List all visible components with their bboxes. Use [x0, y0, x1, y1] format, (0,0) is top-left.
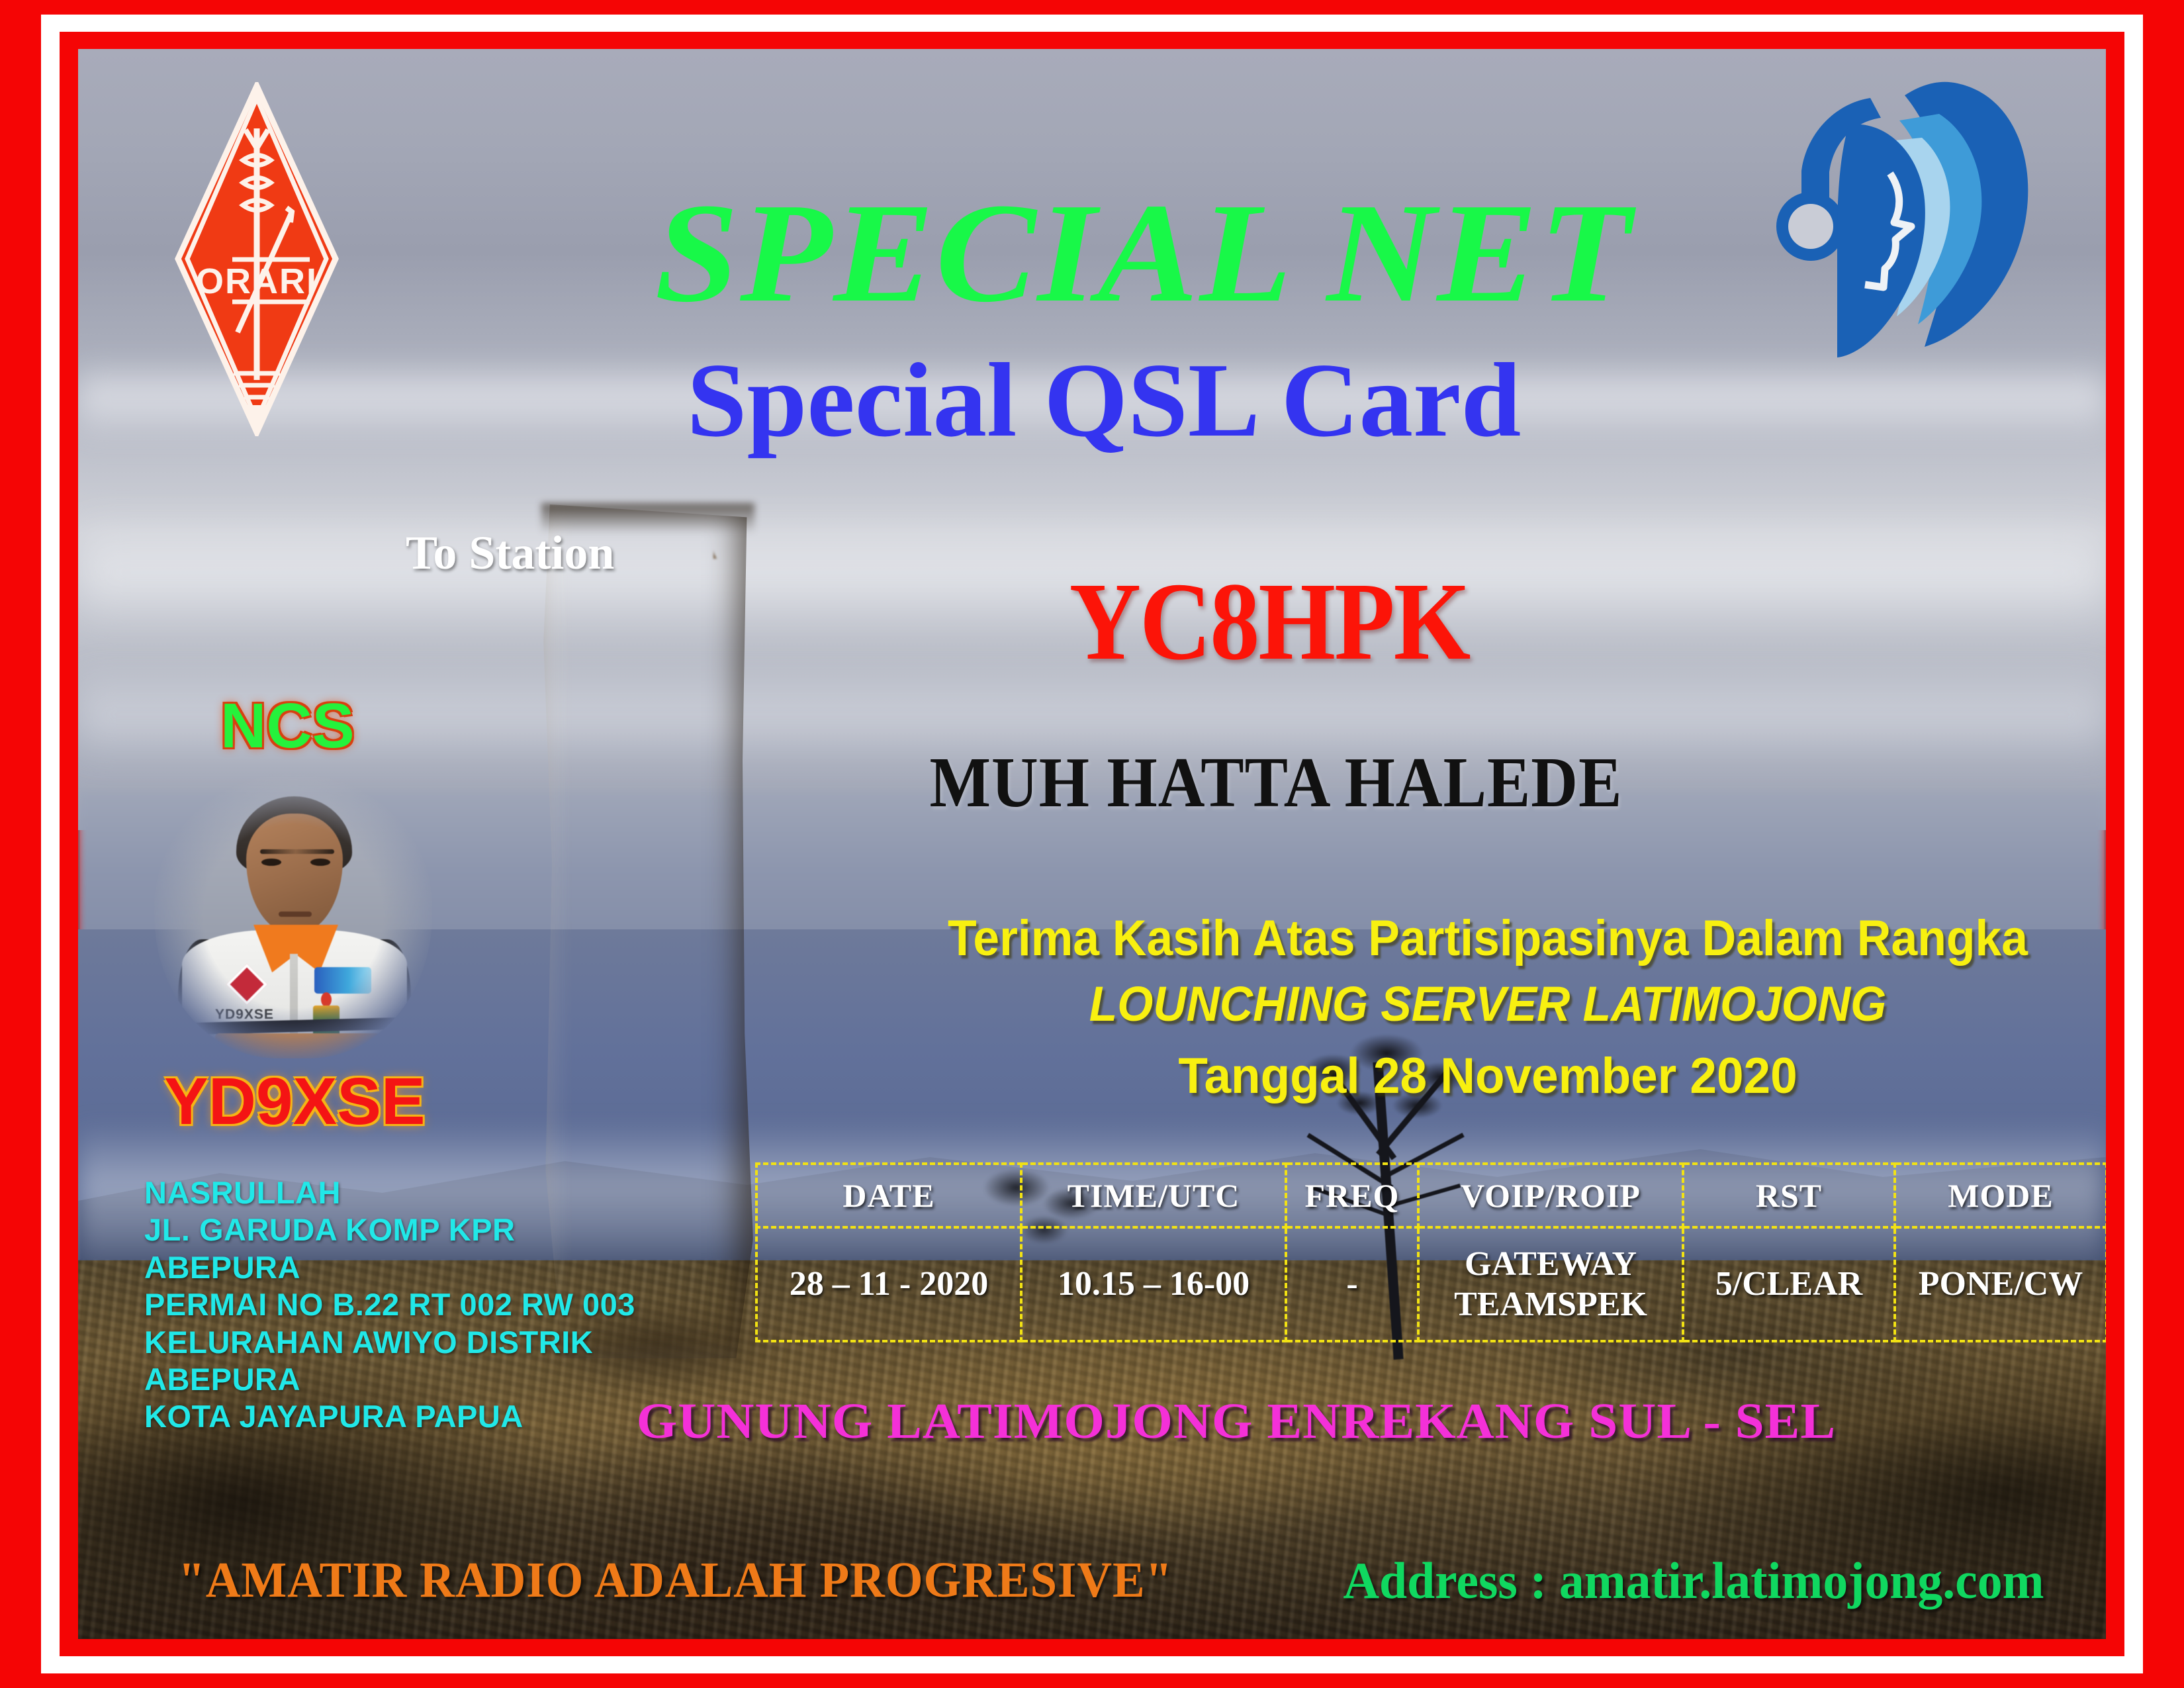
portrait-eye-left	[261, 859, 281, 866]
col-header-date: DATE	[756, 1164, 1021, 1227]
table-header-row: DATE TIME/UTC FREQ VOIP/ROIP RST MODE	[756, 1164, 2106, 1227]
cell-voip: GATEWAY TEAMSPEK	[1418, 1227, 1683, 1341]
col-header-freq: FREQ	[1286, 1164, 1418, 1227]
page-title-special-net: SPECIAL NET	[477, 181, 1810, 324]
address-line: NASRULLAH	[144, 1174, 694, 1211]
address-line: KELURAHAN AWIYO DISTRIK	[144, 1324, 694, 1361]
portrait-brows	[260, 849, 334, 854]
portrait-lanyard-reel	[321, 992, 332, 1007]
ncs-operator-portrait: YD9XSE	[154, 774, 432, 1058]
svg-text:ORARI: ORARI	[196, 261, 318, 301]
portrait-uniform-sash	[215, 1033, 381, 1058]
address-line: ABEPURA	[144, 1249, 694, 1286]
recipient-callsign: YC8HPK	[938, 566, 1600, 677]
ncs-callsign: YD9XSE	[164, 1068, 426, 1135]
cell-rst: 5/CLEAR	[1683, 1227, 1895, 1341]
portrait-mouth	[279, 912, 312, 917]
to-station-label: To Station	[406, 529, 614, 577]
qsl-card-frame: ORARI SPECIAL NET Special QSL Card	[0, 0, 2184, 1688]
event-date-line: Tanggal 28 November 2020	[840, 1047, 2106, 1105]
location-caption: GUNUNG LATIMOJONG ENREKANG SUL - SEL	[514, 1396, 1959, 1446]
cell-voip-line1: GATEWAY	[1420, 1244, 1682, 1284]
col-header-time: TIME/UTC	[1021, 1164, 1286, 1227]
event-name-line: LOUNCHING SERVER LATIMOJONG	[853, 976, 2106, 1032]
portrait-patch-right	[314, 967, 371, 994]
portrait-callsign-embroidery: YD9XSE	[215, 1007, 274, 1023]
ncs-label: NCS	[220, 694, 355, 758]
table-row: 28 – 11 - 2020 10.15 – 16-00 - GATEWAY T…	[756, 1227, 2106, 1341]
footer-motto: "AMATIR RADIO ADALAH PROGRESIVE"	[178, 1555, 1173, 1605]
orari-logo: ORARI	[174, 82, 340, 436]
recipient-operator-name: MUH HATTA HALEDE	[859, 747, 1693, 819]
address-line: ABEPURA	[144, 1361, 694, 1398]
col-header-rst: RST	[1683, 1164, 1895, 1227]
qso-log-table: DATE TIME/UTC FREQ VOIP/ROIP RST MODE 28…	[755, 1162, 2106, 1342]
page-subtitle-qsl-card: Special QSL Card	[463, 347, 1745, 453]
cell-voip-line2: TEAMSPEK	[1420, 1284, 1682, 1325]
col-header-voip: VOIP/ROIP	[1418, 1164, 1683, 1227]
address-line: JL. GARUDA KOMP KPR	[144, 1211, 694, 1248]
cell-freq: -	[1286, 1227, 1418, 1341]
card-background-photo: ORARI SPECIAL NET Special QSL Card	[78, 49, 2106, 1639]
footer-website-address: Address : amatir.latimojong.com	[1343, 1555, 2044, 1607]
event-thanks-line: Terima Kasih Atas Partisipasinya Dalam R…	[853, 910, 2106, 967]
address-line: PERMAI NO B.22 RT 002 RW 003	[144, 1286, 694, 1323]
cell-mode: PONE/CW	[1895, 1227, 2106, 1341]
cell-date: 28 – 11 - 2020	[756, 1227, 1021, 1341]
cell-time: 10.15 – 16-00	[1021, 1227, 1286, 1341]
portrait-eye-right	[310, 859, 330, 866]
col-header-mode: MODE	[1895, 1164, 2106, 1227]
cairn-grass-wisp	[713, 486, 852, 559]
